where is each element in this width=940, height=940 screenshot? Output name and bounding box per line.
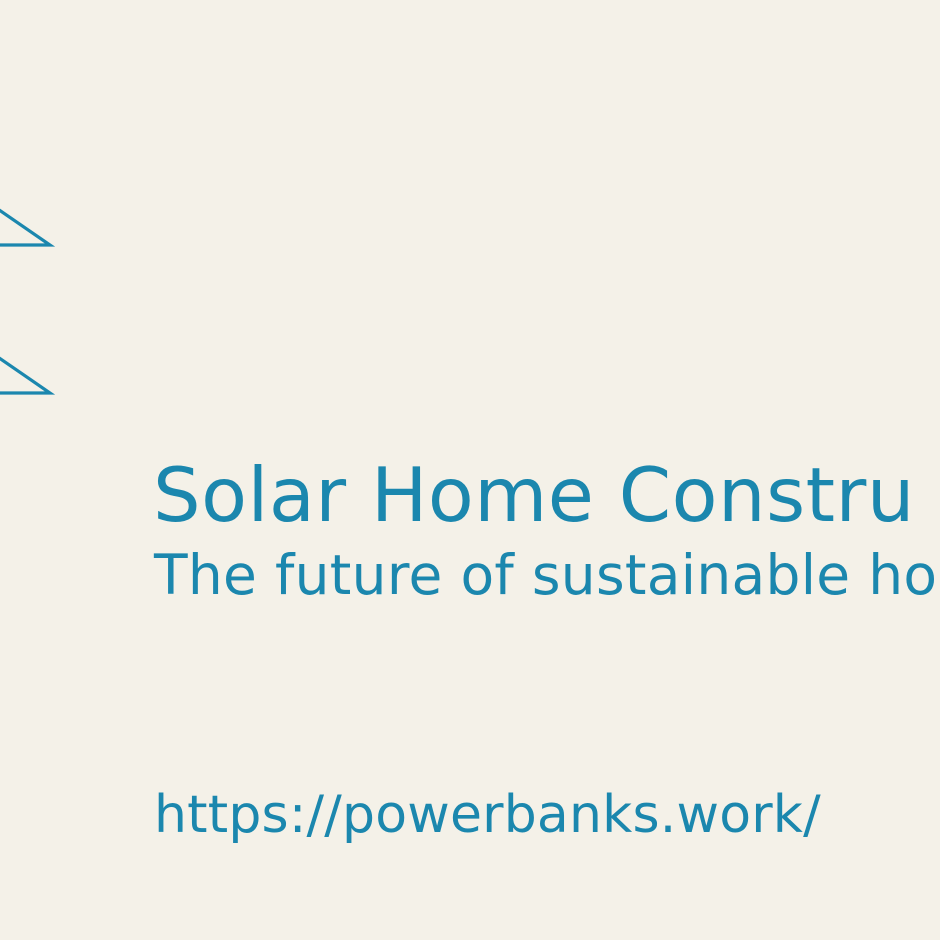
triangle-outline-bottom-icon (0, 318, 102, 428)
banner-headline: Solar Home Constru (153, 447, 915, 543)
triangle-outline-top-icon (0, 170, 102, 280)
banner-url[interactable]: https://powerbanks.work/ (154, 783, 821, 847)
promo-banner: Solar Home Constru The future of sustain… (0, 0, 940, 940)
banner-subheadline: The future of sustainable hous (154, 541, 940, 609)
